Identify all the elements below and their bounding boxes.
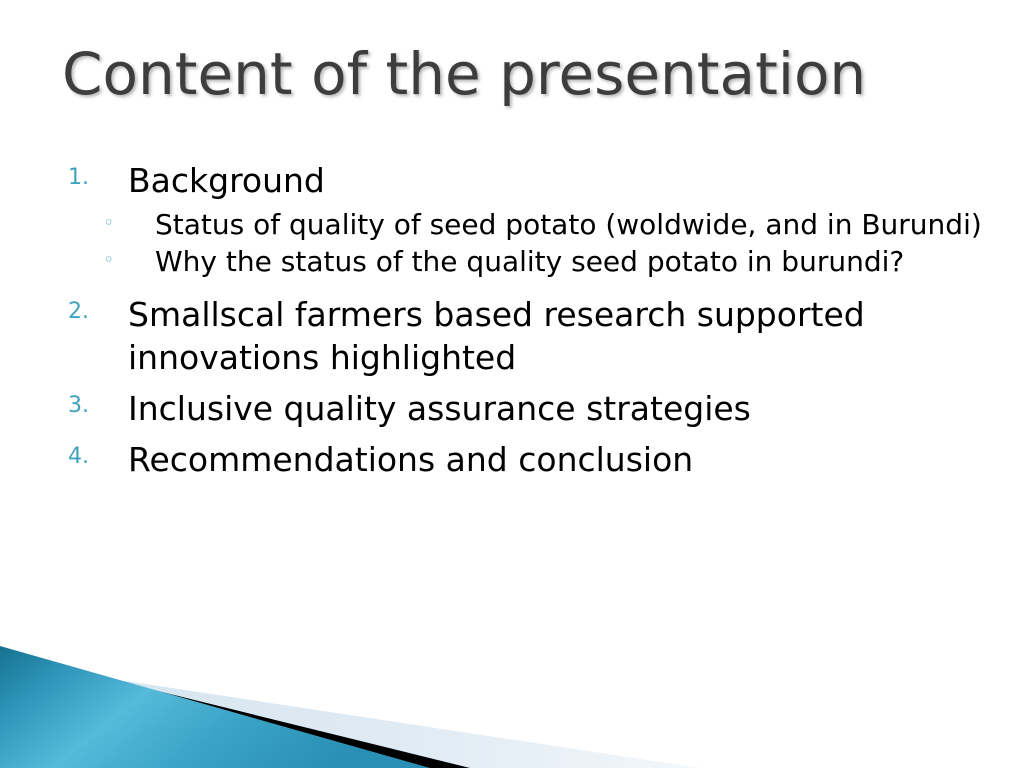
list-item-2-label: Smallscal farmers based research support… [128, 294, 990, 380]
page-title: Content of the presentation [62, 44, 866, 105]
decorative-corner-graphic [0, 618, 1024, 768]
list-subitem-1-2: ◦ Why the status of the quality seed pot… [0, 244, 990, 280]
list-subitem-1-1-label: Status of quality of seed potato (woldwi… [155, 207, 990, 243]
circle-bullet-icon: ◦ [103, 248, 133, 273]
list-marker-4: 4. [68, 443, 114, 472]
list-item-4-label: Recommendations and conclusion [128, 439, 990, 482]
list-item-3: 3. Inclusive quality assurance strategie… [0, 388, 990, 431]
list-item-2: 2. Smallscal farmers based research supp… [0, 294, 990, 380]
list-subitem-1-2-label: Why the status of the quality seed potat… [155, 244, 990, 280]
list-item-1-label: Background [128, 160, 990, 203]
black-accent-band [0, 652, 470, 768]
list-marker-3: 3. [68, 392, 114, 421]
pale-blue-band [0, 662, 700, 768]
sublist-1: ◦ Status of quality of seed potato (wold… [0, 207, 990, 280]
list-marker-1: 1. [68, 164, 114, 193]
content-list: 1. Background ◦ Status of quality of see… [0, 160, 990, 484]
list-marker-2: 2. [68, 298, 114, 327]
list-item-3-label: Inclusive quality assurance strategies [128, 388, 990, 431]
list-item-1: 1. Background [0, 160, 990, 203]
teal-gradient-band [0, 646, 430, 768]
list-subitem-1-1: ◦ Status of quality of seed potato (wold… [0, 207, 990, 243]
list-item-4: 4. Recommendations and conclusion [0, 439, 990, 482]
slide-canvas: Content of the presentation 1. Backgroun… [0, 0, 1024, 768]
circle-bullet-icon: ◦ [103, 211, 133, 236]
